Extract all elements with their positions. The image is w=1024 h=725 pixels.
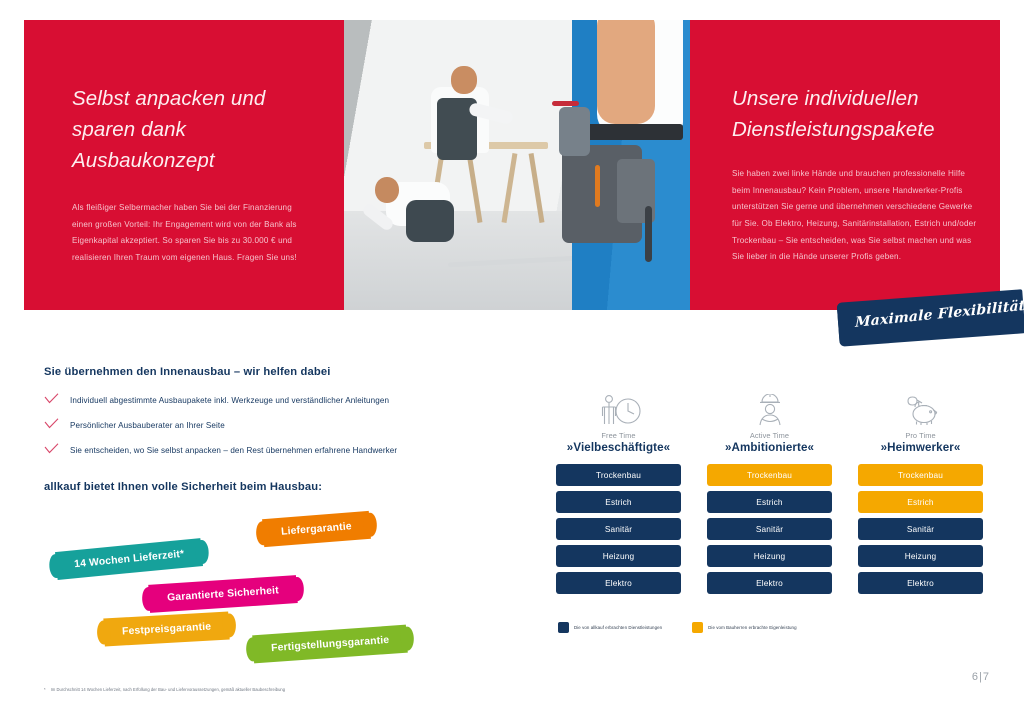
footnote-text: Im Durchschnitt 14 Wochen Lieferzeit, na… <box>51 687 285 692</box>
package-column-heimwerker: Pro Time »Heimwerker« Trockenbau Estrich… <box>858 392 983 599</box>
checklist-item-label: Sie entscheiden, wo Sie selbst anpacken … <box>70 442 397 456</box>
package-legend: Die von allkauf erbrachten Dienstleistun… <box>558 622 797 633</box>
badge-festpreisgarantie: Festpreisgarantie <box>103 612 230 647</box>
legend-swatch-blue <box>558 622 569 633</box>
photo-wristband <box>552 101 580 106</box>
guarantees-title: allkauf bietet Ihnen volle Sicherheit be… <box>44 481 322 493</box>
worker-helmet-icon <box>707 392 832 426</box>
photo-worker-kneeling-overall <box>406 200 454 242</box>
service-packages: Free Time »Vielbeschäftigte« Trockenbau … <box>556 392 984 599</box>
legend-swatch-orange <box>692 622 703 633</box>
check-icon <box>44 417 70 429</box>
checklist-item: Persönlicher Ausbauberater an Ihrer Seit… <box>44 417 464 442</box>
package-row-sanitaer: Sanitär <box>858 518 983 540</box>
package-subtitle: Pro Time <box>858 431 983 440</box>
package-row-trockenbau: Trockenbau <box>556 464 681 486</box>
legend-label: Die vom Bauherren erbrachte Eigenleistun… <box>708 625 796 630</box>
person-clock-icon <box>556 392 681 426</box>
package-name: »Ambitionierte« <box>707 441 832 454</box>
photo-screwdriver-icon <box>595 165 600 207</box>
footnote-marker: * <box>44 687 46 692</box>
package-subtitle: Active Time <box>707 431 832 440</box>
package-column-vielbeschaeftigte: Free Time »Vielbeschäftigte« Trockenbau … <box>556 392 681 599</box>
package-name: »Vielbeschäftigte« <box>556 441 681 454</box>
package-column-ambitionierte: Active Time »Ambitionierte« Trockenbau E… <box>707 392 832 599</box>
photo-foreground-arm <box>597 20 656 124</box>
checklist-item-label: Individuell abgestimmte Ausbaupakete ink… <box>70 392 389 406</box>
package-row-list: Trockenbau Estrich Sanitär Heizung Elekt… <box>707 464 832 594</box>
package-name: »Heimwerker« <box>858 441 983 454</box>
package-row-list: Trockenbau Estrich Sanitär Heizung Elekt… <box>858 464 983 594</box>
brochure-page: Selbst anpacken und sparen dank Ausbauko… <box>0 0 1024 725</box>
package-row-sanitaer: Sanitär <box>556 518 681 540</box>
package-row-estrich: Estrich <box>556 491 681 513</box>
package-row-heizung: Heizung <box>858 545 983 567</box>
package-row-elektro: Elektro <box>556 572 681 594</box>
package-row-estrich: Estrich <box>858 491 983 513</box>
legend-label: Die von allkauf erbrachten Dienstleistun… <box>574 625 662 630</box>
hero-left-body: Als fleißiger Selbermacher haben Sie bei… <box>72 200 310 267</box>
check-icon <box>44 442 70 454</box>
package-row-list: Trockenbau Estrich Sanitär Heizung Elekt… <box>556 464 681 594</box>
photo-worker-standing-head <box>451 66 477 94</box>
package-row-trockenbau: Trockenbau <box>858 464 983 486</box>
checklist-item-label: Persönlicher Ausbauberater an Ihrer Seit… <box>70 417 225 431</box>
hero-panel-right: Unsere individuellen Dienstleistungspake… <box>690 20 1000 310</box>
flexibility-ribbon-label: Maximale Flexibilität <box>855 298 1024 331</box>
package-row-heizung: Heizung <box>707 545 832 567</box>
hero-band: Selbst anpacken und sparen dank Ausbauko… <box>24 20 1000 310</box>
guarantee-badges: Liefergarantie 14 Wochen Lieferzeit* Gar… <box>44 505 464 665</box>
hero-right-body: Sie haben zwei linke Hände und brauchen … <box>732 166 984 266</box>
photo-worker-kneeling-head <box>375 177 399 203</box>
check-icon <box>44 392 70 404</box>
footnote: *Im Durchschnitt 14 Wochen Lieferzeit, n… <box>44 687 285 692</box>
hero-panel-left: Selbst anpacken und sparen dank Ausbauko… <box>24 20 344 310</box>
package-row-sanitaer: Sanitär <box>707 518 832 540</box>
piggy-bank-icon <box>858 392 983 426</box>
checklist: Individuell abgestimmte Ausbaupakete ink… <box>44 392 464 467</box>
page-number: 6|7 <box>972 671 990 683</box>
legend-item-eigenleistung: Die vom Bauherren erbrachte Eigenleistun… <box>692 622 796 633</box>
package-subtitle: Free Time <box>556 431 681 440</box>
package-row-elektro: Elektro <box>707 572 832 594</box>
badge-liefergarantie: Liefergarantie <box>262 511 371 547</box>
badge-lieferzeit: 14 Wochen Lieferzeit* <box>55 538 203 580</box>
photo-glove <box>559 107 590 156</box>
checklist-item: Sie entscheiden, wo Sie selbst anpacken … <box>44 442 464 467</box>
badge-fertigstellungsgarantie: Fertigstellungsgarantie <box>252 625 408 664</box>
badge-garantierte-sicherheit: Garantierte Sicherheit <box>148 575 297 613</box>
photo-hammer-icon <box>645 206 652 262</box>
hero-left-title: Selbst anpacken und sparen dank Ausbauko… <box>72 83 322 176</box>
package-row-trockenbau: Trockenbau <box>707 464 832 486</box>
hero-photo-craftsmen <box>344 20 690 310</box>
checklist-item: Individuell abgestimmte Ausbaupakete ink… <box>44 392 464 417</box>
package-row-estrich: Estrich <box>707 491 832 513</box>
package-row-heizung: Heizung <box>556 545 681 567</box>
legend-item-dienstleistungen: Die von allkauf erbrachten Dienstleistun… <box>558 622 662 633</box>
hero-right-title: Unsere individuellen Dienstleistungspake… <box>732 83 987 145</box>
checklist-title: Sie übernehmen den Innenausbau – wir hel… <box>44 366 330 378</box>
package-row-elektro: Elektro <box>858 572 983 594</box>
